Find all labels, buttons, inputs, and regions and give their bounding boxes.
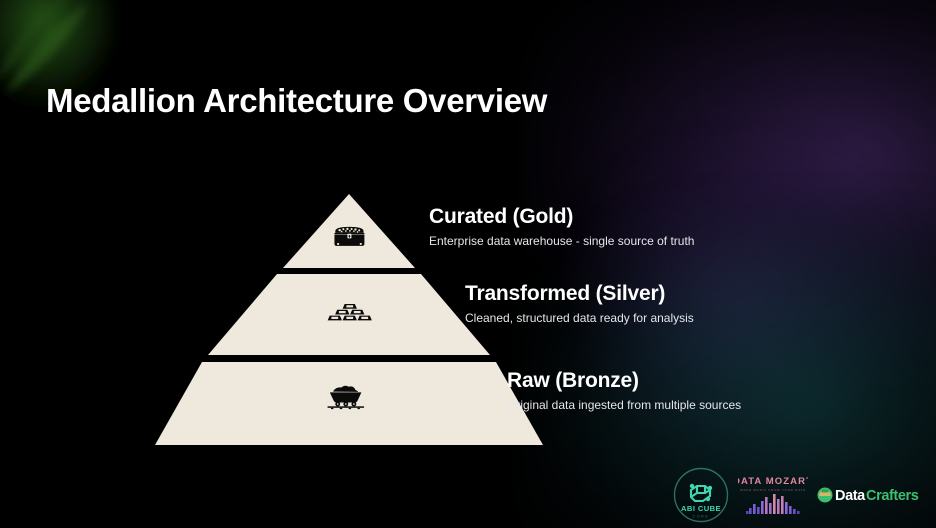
tier-caption-gold: Curated (Gold) Enterprise data warehouse… (429, 205, 694, 248)
logo-abi-cube[interactable]: ABI CUBE CORE (672, 466, 730, 524)
logo-data-mozart[interactable]: DATA MOZART MAKE MUSIC FROM YOUR DATA (738, 470, 808, 520)
tier-heading-silver: Transformed (Silver) (465, 282, 694, 306)
tier-subtitle-silver: Cleaned, structured data ready for analy… (465, 311, 694, 325)
medallion-pyramid-diagram (0, 0, 936, 528)
svg-text:Data: Data (835, 488, 866, 504)
pyramid-tier-bronze[interactable] (155, 362, 543, 445)
treasure-chest-icon (334, 227, 364, 246)
svg-text:ABI CUBE: ABI CUBE (681, 504, 721, 513)
tier-caption-silver: Transformed (Silver) Cleaned, structured… (465, 282, 694, 325)
tier-caption-bronze: Raw (Bronze) Original data ingested from… (507, 369, 740, 412)
tier-subtitle-gold: Enterprise data warehouse - single sourc… (429, 234, 694, 248)
logo-datacrafters[interactable]: Data Crafters (816, 482, 934, 508)
slide-canvas: Medallion Architecture Overview (0, 0, 936, 528)
pyramid-tier-silver[interactable] (208, 274, 490, 355)
tier-heading-bronze: Raw (Bronze) (507, 369, 740, 393)
pyramid-tier-gold[interactable] (283, 194, 415, 268)
tier-divider-silver-bronze (202, 355, 496, 362)
svg-text:MAKE MUSIC FROM YOUR DATA: MAKE MUSIC FROM YOUR DATA (740, 488, 806, 492)
tier-heading-gold: Curated (Gold) (429, 205, 694, 229)
tier-divider-gold-silver (277, 268, 421, 274)
svg-text:Crafters: Crafters (866, 488, 919, 504)
svg-text:DATA MOZART: DATA MOZART (738, 476, 808, 487)
crafters-mark-icon (818, 488, 833, 503)
partner-logo-bar: ABI CUBE CORE DATA MOZART MAKE MUSIC FRO… (672, 466, 930, 524)
svg-text:CORE: CORE (693, 515, 710, 519)
equalizer-bars-icon (746, 494, 800, 514)
tier-subtitle-bronze: Original data ingested from multiple sou… (507, 398, 741, 412)
